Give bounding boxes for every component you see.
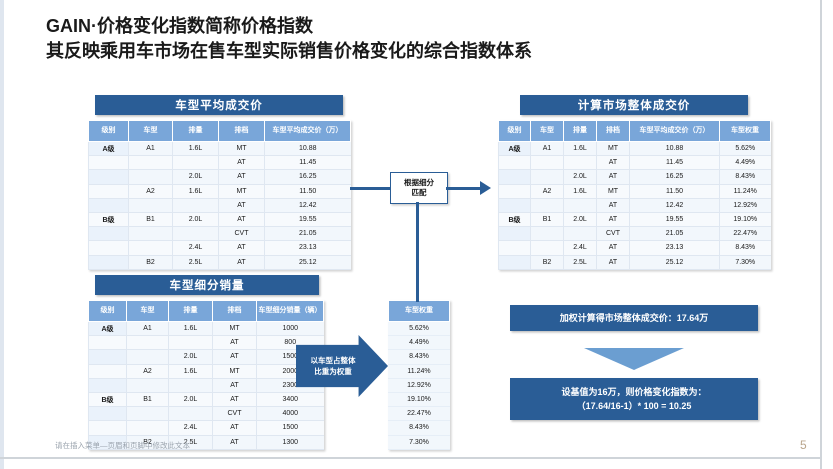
cell-disp: 2.5L — [564, 255, 597, 269]
right-frame-line — [820, 0, 822, 469]
cell-gear: AT — [219, 255, 265, 269]
cell-gear: CVT — [219, 227, 265, 241]
weight-panel: 车型权重 5.62%4.49%8.43%11.24%12.92%19.10%22… — [388, 300, 450, 450]
table-row: 2.4LAT23.138.43% — [499, 241, 771, 255]
cell-model — [127, 407, 169, 421]
cell-gear: AT — [213, 336, 257, 350]
table-row: B22.5LAT25.12 — [89, 255, 351, 269]
connector-line-left — [350, 187, 390, 190]
table-row: AT12.42 — [89, 198, 351, 212]
cell-model — [127, 350, 169, 364]
table-row: AT2300 — [89, 378, 324, 392]
cell-level — [89, 378, 127, 392]
cell-level — [499, 170, 531, 184]
cell-price: 16.25 — [630, 170, 720, 184]
table-row: AT11.45 — [89, 156, 351, 170]
cell-disp — [169, 378, 213, 392]
weight-rule-line-1: 以车型占整体 — [311, 355, 356, 366]
cell-model — [127, 336, 169, 350]
cell-model — [531, 227, 564, 241]
cell-weight: 12.92% — [720, 198, 771, 212]
cell-sales: 1000 — [257, 322, 324, 336]
col-gear: 排档 — [219, 121, 265, 142]
cell-gear: AT — [219, 212, 265, 226]
cell-sales: 1500 — [257, 421, 324, 435]
cell-disp: 1.6L — [173, 142, 219, 156]
table-row: CVT21.0522.47% — [499, 227, 771, 241]
page-number: 5 — [800, 438, 807, 452]
table-row: B级B12.0LAT3400 — [89, 392, 324, 406]
down-arrow-icon — [584, 348, 684, 370]
table-header-row: 级别 车型 排量 排档 车型平均成交价（万） — [89, 121, 351, 142]
match-rule-box: 根据细分 匹配 — [390, 172, 448, 204]
table-row: A级A11.6LMT1000 — [89, 322, 324, 336]
cell-gear: CVT — [597, 227, 630, 241]
cell-price: 25.12 — [265, 255, 351, 269]
cell-level — [89, 227, 129, 241]
cell-price: 11.50 — [630, 184, 720, 198]
cell-disp: 2.0L — [169, 392, 213, 406]
cell-model: A2 — [127, 364, 169, 378]
cell-disp — [169, 407, 213, 421]
cell-weight: 11.24% — [720, 184, 771, 198]
slide-canvas: GAIN·价格变化指数简称价格指数 其反映乘用车市场在售车型实际销售价格变化的综… — [0, 0, 833, 469]
table-header-row: 级别 车型 排量 排档 车型细分销量（辆） — [89, 301, 324, 322]
cell-price: 23.13 — [630, 241, 720, 255]
cell-gear: AT — [219, 241, 265, 255]
table-row: 2.0LAT16.258.43% — [499, 170, 771, 184]
table-row: CVT21.05 — [89, 227, 351, 241]
cell-disp — [173, 156, 219, 170]
table-row: A级A11.6LMT10.88 — [89, 142, 351, 156]
cell-model: A1 — [129, 142, 173, 156]
cell-price: 16.25 — [265, 170, 351, 184]
cell-disp: 2.0L — [173, 170, 219, 184]
col-sales: 车型细分销量（辆） — [257, 301, 324, 322]
table-body: A级A11.6LMT10.885.62%AT11.454.49%2.0LAT16… — [499, 142, 771, 270]
cell-price: 21.05 — [265, 227, 351, 241]
cell-model: B1 — [127, 392, 169, 406]
cell-model: B1 — [531, 212, 564, 226]
cell-disp: 2.0L — [173, 212, 219, 226]
cell-level: B级 — [89, 212, 129, 226]
cell-disp: 1.6L — [169, 364, 213, 378]
cell-level — [499, 255, 531, 269]
cell-model: B2 — [531, 255, 564, 269]
cell-price: 19.55 — [630, 212, 720, 226]
match-rule-line-1: 根据细分 — [404, 178, 434, 188]
cell-level — [499, 198, 531, 212]
table-market-price: 级别 车型 排量 排档 车型平均成交价（万） 车型权重 A级A11.6LMT10… — [498, 120, 771, 270]
cell-level — [499, 156, 531, 170]
connector-line-down — [416, 202, 419, 302]
cell-price: 10.88 — [265, 142, 351, 156]
weight-value: 7.30% — [388, 436, 450, 450]
cell-gear: AT — [213, 421, 257, 435]
cell-model: A2 — [129, 184, 173, 198]
cell-model — [531, 198, 564, 212]
cell-level: A级 — [89, 142, 129, 156]
cell-gear: MT — [213, 364, 257, 378]
cell-disp — [169, 336, 213, 350]
col-gear: 排档 — [597, 121, 630, 142]
cell-gear: MT — [219, 142, 265, 156]
cell-level: B级 — [499, 212, 531, 226]
cell-sales: 1300 — [257, 435, 324, 449]
cell-level — [89, 198, 129, 212]
table-row: B级B12.0LAT19.55 — [89, 212, 351, 226]
cell-disp: 2.4L — [564, 241, 597, 255]
connector-line-right — [446, 187, 482, 190]
cell-level — [89, 336, 127, 350]
cell-gear: AT — [597, 170, 630, 184]
banner-market-price: 计算市场整体成交价 — [520, 95, 748, 115]
col-displacement: 排量 — [173, 121, 219, 142]
bottom-frame-line — [0, 457, 820, 459]
cell-model — [127, 378, 169, 392]
table-row: B级B12.0LAT19.5519.10% — [499, 212, 771, 226]
page-title: GAIN·价格变化指数简称价格指数 其反映乘用车市场在售车型实际销售价格变化的综… — [46, 14, 746, 64]
cell-level — [89, 407, 127, 421]
cell-level — [89, 184, 129, 198]
cell-level: B级 — [89, 392, 127, 406]
cell-level — [89, 364, 127, 378]
table-row: CVT4000 — [89, 407, 324, 421]
cell-model — [129, 170, 173, 184]
cell-weight: 5.62% — [720, 142, 771, 156]
title-line-1: GAIN·价格变化指数简称价格指数 — [46, 16, 313, 36]
table-row: A级A11.6LMT10.885.62% — [499, 142, 771, 156]
cell-level — [499, 241, 531, 255]
cell-level — [499, 227, 531, 241]
weight-rule-line-2: 比重为权重 — [311, 366, 356, 377]
cell-model: A1 — [531, 142, 564, 156]
col-gear: 排档 — [213, 301, 257, 322]
cell-level — [499, 184, 531, 198]
cell-gear: MT — [597, 142, 630, 156]
cell-disp — [173, 227, 219, 241]
cell-disp — [564, 156, 597, 170]
cell-disp — [564, 227, 597, 241]
cell-model — [127, 421, 169, 435]
cell-price: 21.05 — [630, 227, 720, 241]
cell-level — [89, 170, 129, 184]
table-row: A21.6LMT2000 — [89, 364, 324, 378]
table-row: AT12.4212.92% — [499, 198, 771, 212]
cell-weight: 7.30% — [720, 255, 771, 269]
cell-weight: 19.10% — [720, 212, 771, 226]
col-price: 车型平均成交价（万） — [630, 121, 720, 142]
match-rule-line-2: 匹配 — [404, 188, 434, 198]
cell-gear: AT — [219, 170, 265, 184]
cell-level: A级 — [499, 142, 531, 156]
result-market-price-box: 加权计算得市场整体成交价：17.64万 — [510, 305, 758, 331]
index-line-2: （17.64/16-1）* 100 = 10.25 — [561, 399, 706, 413]
weight-value: 11.24% — [388, 365, 450, 379]
cell-level: A级 — [89, 322, 127, 336]
col-model: 车型 — [127, 301, 169, 322]
cell-sales: 3400 — [257, 392, 324, 406]
cell-disp: 1.6L — [169, 322, 213, 336]
col-weight: 车型权重 — [720, 121, 771, 142]
cell-sales: 4000 — [257, 407, 324, 421]
cell-disp — [173, 198, 219, 212]
cell-disp: 2.4L — [169, 421, 213, 435]
cell-weight: 4.49% — [720, 156, 771, 170]
weight-value: 8.43% — [388, 421, 450, 435]
cell-model — [129, 241, 173, 255]
table-row: AT11.454.49% — [499, 156, 771, 170]
cell-price: 10.88 — [630, 142, 720, 156]
cell-model — [129, 227, 173, 241]
weight-value: 5.62% — [388, 322, 450, 336]
cell-level — [89, 156, 129, 170]
slide-footer: 请在插入菜单—页眉和页脚中修改此文本 — [55, 440, 190, 451]
table-row: 2.0LAT16.25 — [89, 170, 351, 184]
cell-gear: CVT — [213, 407, 257, 421]
cell-gear: AT — [213, 378, 257, 392]
col-level: 级别 — [499, 121, 531, 142]
cell-level — [89, 421, 127, 435]
cell-gear: AT — [219, 156, 265, 170]
table-row: B22.5LAT25.127.30% — [499, 255, 771, 269]
cell-weight: 22.47% — [720, 227, 771, 241]
col-model: 车型 — [129, 121, 173, 142]
weight-value: 4.49% — [388, 336, 450, 350]
cell-disp: 2.0L — [564, 212, 597, 226]
weight-value: 12.92% — [388, 379, 450, 393]
cell-level — [89, 255, 129, 269]
table-row: 2.0LAT1500 — [89, 350, 324, 364]
weight-value: 19.10% — [388, 393, 450, 407]
cell-gear: MT — [597, 184, 630, 198]
title-line-2: 其反映乘用车市场在售车型实际销售价格变化的综合指数体系 — [46, 39, 746, 64]
cell-price: 11.50 — [265, 184, 351, 198]
cell-price: 23.13 — [265, 241, 351, 255]
table-row: 2.4LAT23.13 — [89, 241, 351, 255]
index-line-1: 设基值为16万，则价格变化指数为： — [561, 385, 706, 399]
cell-price: 19.55 — [265, 212, 351, 226]
col-displacement: 排量 — [169, 301, 213, 322]
cell-level — [89, 241, 129, 255]
col-level: 级别 — [89, 301, 127, 322]
cell-disp: 2.4L — [173, 241, 219, 255]
cell-model: A1 — [127, 322, 169, 336]
cell-model — [531, 170, 564, 184]
cell-price: 12.42 — [265, 198, 351, 212]
cell-model: B1 — [129, 212, 173, 226]
result-index-box: 设基值为16万，则价格变化指数为： （17.64/16-1）* 100 = 10… — [510, 378, 758, 420]
table-avg-price: 级别 车型 排量 排档 车型平均成交价（万） A级A11.6LMT10.88AT… — [88, 120, 351, 270]
table-row: AT800 — [89, 336, 324, 350]
table-row: A21.6LMT11.50 — [89, 184, 351, 198]
cell-gear: AT — [597, 156, 630, 170]
col-level: 级别 — [89, 121, 129, 142]
cell-gear: AT — [597, 255, 630, 269]
cell-price: 11.45 — [630, 156, 720, 170]
cell-gear: MT — [219, 184, 265, 198]
cell-disp: 1.6L — [564, 142, 597, 156]
cell-model: B2 — [129, 255, 173, 269]
cell-gear: AT — [213, 435, 257, 449]
cell-weight: 8.43% — [720, 241, 771, 255]
table-body: A级A11.6LMT10.88AT11.452.0LAT16.25A21.6LM… — [89, 142, 351, 270]
cell-model — [129, 156, 173, 170]
cell-model — [531, 156, 564, 170]
weight-value: 22.47% — [388, 407, 450, 421]
cell-disp: 2.0L — [564, 170, 597, 184]
cell-gear: AT — [597, 241, 630, 255]
cell-price: 11.45 — [265, 156, 351, 170]
col-model: 车型 — [531, 121, 564, 142]
cell-price: 12.42 — [630, 198, 720, 212]
col-displacement: 排量 — [564, 121, 597, 142]
connector-arrow-right-icon — [480, 181, 491, 195]
col-price: 车型平均成交价（万） — [265, 121, 351, 142]
table-row: 2.4LAT1500 — [89, 421, 324, 435]
cell-model — [531, 241, 564, 255]
cell-gear: AT — [213, 392, 257, 406]
cell-model — [129, 198, 173, 212]
cell-gear: AT — [597, 198, 630, 212]
weight-value-list: 5.62%4.49%8.43%11.24%12.92%19.10%22.47%8… — [388, 322, 450, 450]
cell-gear: AT — [597, 212, 630, 226]
weight-value: 8.43% — [388, 350, 450, 364]
cell-disp: 2.5L — [173, 255, 219, 269]
banner-sales: 车型细分销量 — [95, 275, 319, 295]
cell-weight: 8.43% — [720, 170, 771, 184]
cell-disp — [564, 198, 597, 212]
cell-gear: MT — [213, 322, 257, 336]
table-sales: 级别 车型 排量 排档 车型细分销量（辆） A级A11.6LMT1000AT80… — [88, 300, 324, 450]
cell-gear: AT — [219, 198, 265, 212]
left-accent-bar — [0, 0, 4, 469]
cell-price: 25.12 — [630, 255, 720, 269]
table-header-row: 级别 车型 排量 排档 车型平均成交价（万） 车型权重 — [499, 121, 771, 142]
cell-gear: AT — [213, 350, 257, 364]
cell-level — [89, 350, 127, 364]
table-row: A21.6LMT11.5011.24% — [499, 184, 771, 198]
cell-model: A2 — [531, 184, 564, 198]
cell-disp: 1.6L — [564, 184, 597, 198]
banner-avg-price: 车型平均成交价 — [95, 95, 343, 115]
cell-disp: 2.0L — [169, 350, 213, 364]
cell-disp: 1.6L — [173, 184, 219, 198]
table-body: A级A11.6LMT1000AT8002.0LAT1500A21.6LMT200… — [89, 322, 324, 450]
weight-panel-header: 车型权重 — [388, 300, 450, 322]
